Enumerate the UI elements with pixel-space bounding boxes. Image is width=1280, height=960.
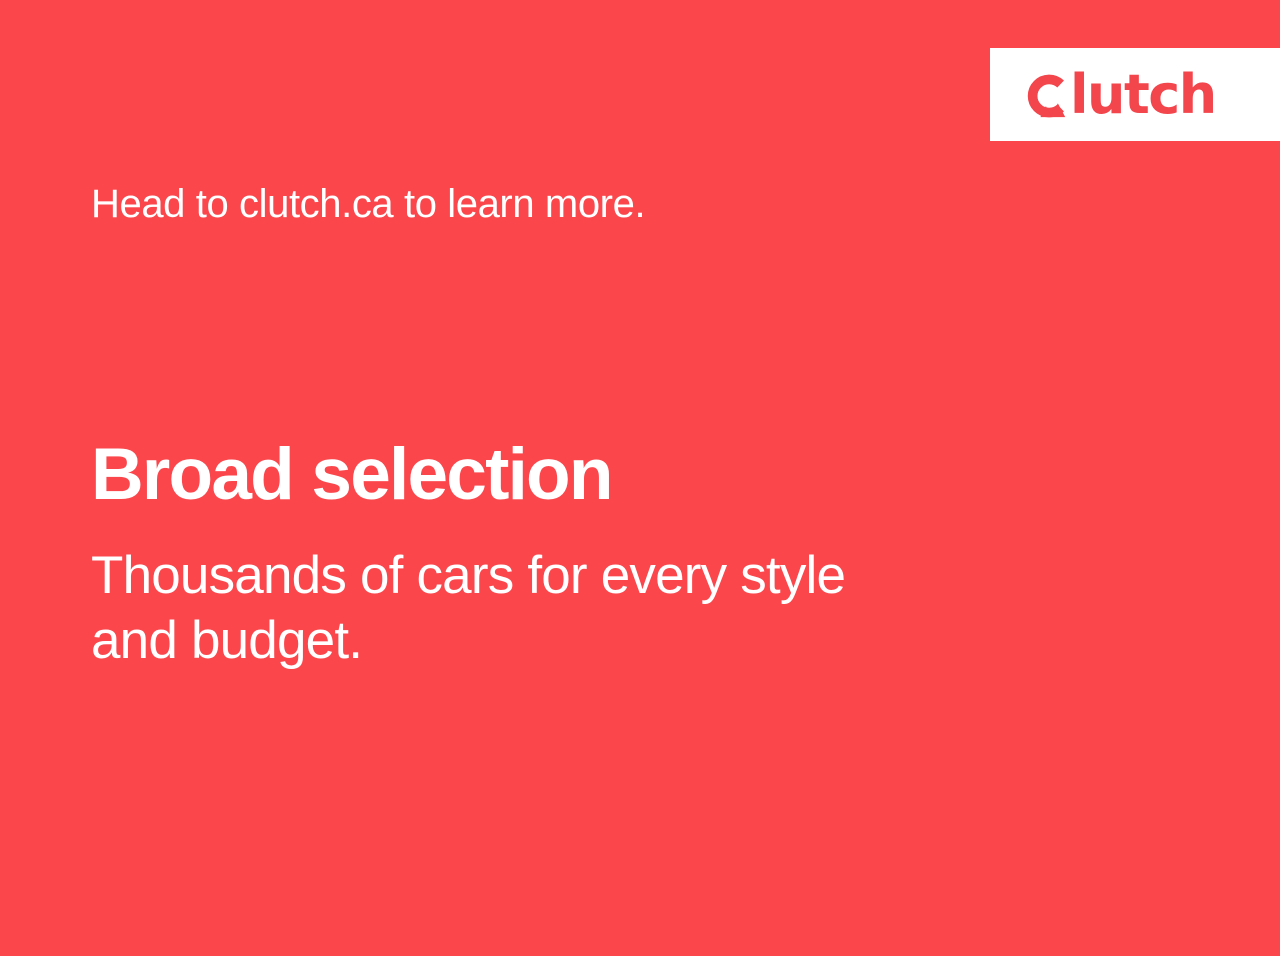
slide-root: lutch Head to clutch.ca to learn more. B… (0, 0, 1280, 960)
brand-logo-badge[interactable]: lutch (990, 48, 1280, 141)
subhead-line-2: and budget. (91, 608, 1071, 673)
bottom-edge-strip (0, 956, 1280, 960)
clutch-c-icon (1022, 73, 1068, 119)
subhead-text: Thousands of cars for every style and bu… (91, 543, 1071, 673)
kicker-text: Head to clutch.ca to learn more. (91, 182, 645, 227)
logo-lockup: lutch (1022, 68, 1216, 122)
page-title: Broad selection (91, 437, 612, 514)
subhead-line-1: Thousands of cars for every style (91, 543, 1071, 608)
brand-wordmark: lutch (1070, 68, 1216, 122)
